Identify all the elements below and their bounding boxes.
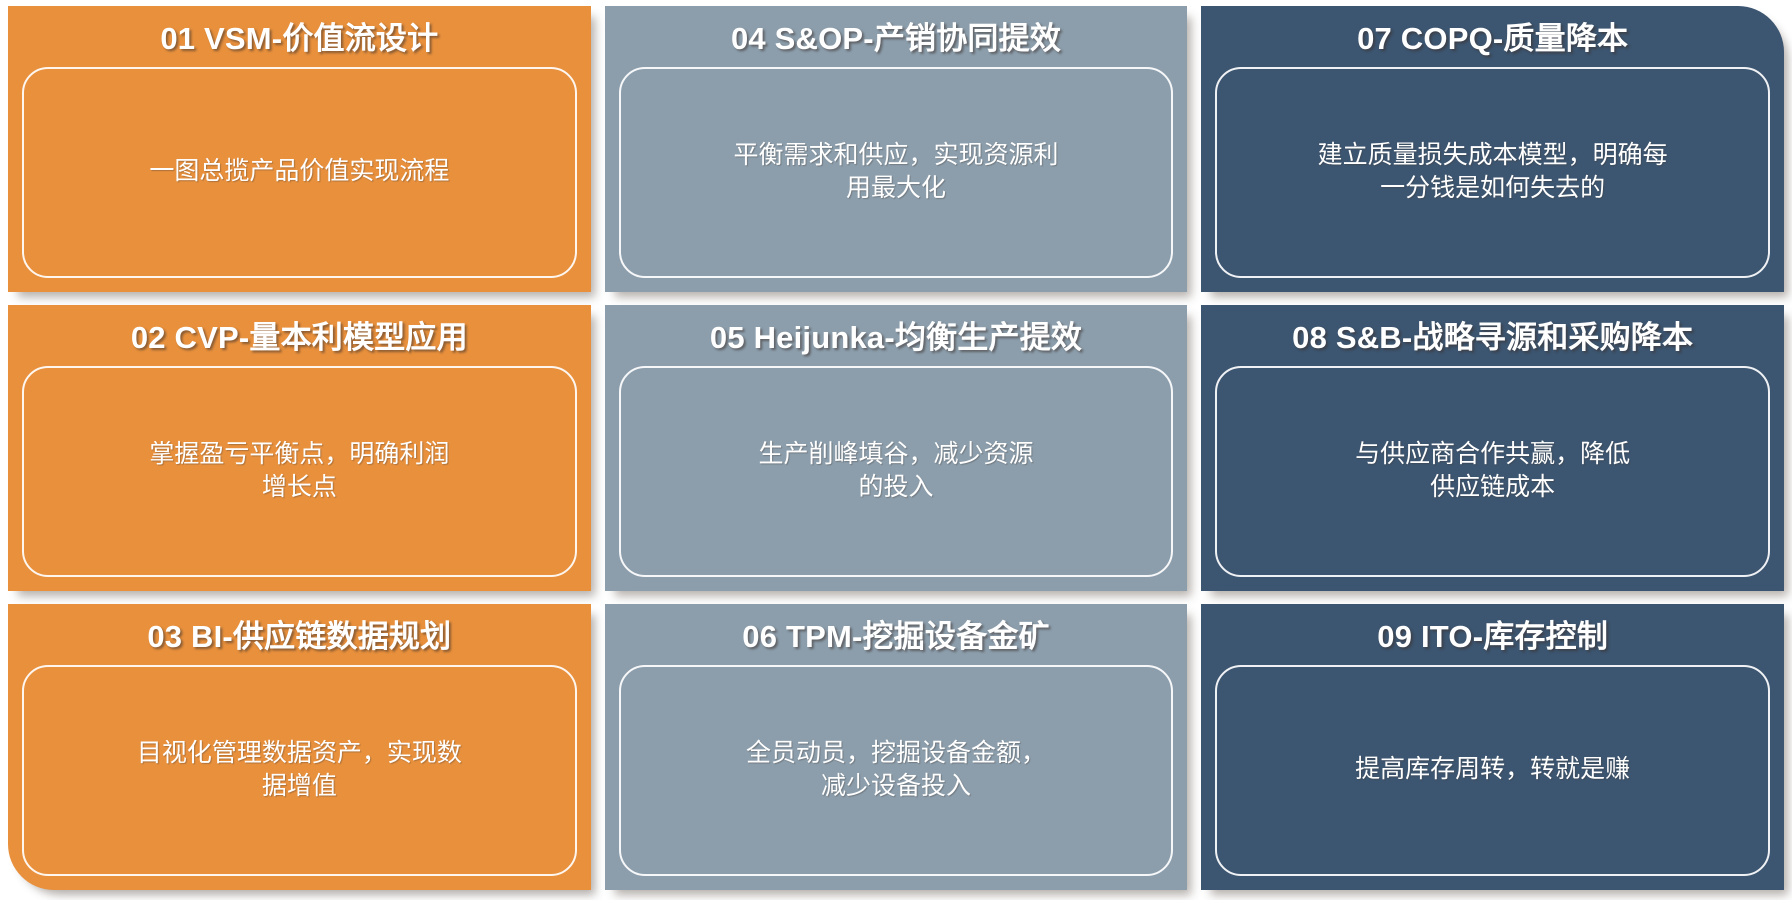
card-07-copq[interactable]: 07 COPQ-质量降本 建立质量损失成本模型，明确每 一分钱是如何失去的 <box>1201 6 1784 292</box>
card-06-tpm[interactable]: 06 TPM-挖掘设备金矿 全员动员，挖掘设备金额， 减少设备投入 <box>605 604 1188 890</box>
card-description: 与供应商合作共赢，降低 供应链成本 <box>1355 438 1630 506</box>
card-description-frame: 平衡需求和供应，实现资源利 用最大化 <box>619 67 1174 278</box>
card-description-frame: 建立质量损失成本模型，明确每 一分钱是如何失去的 <box>1215 67 1770 278</box>
card-description: 目视化管理数据资产，实现数 据增值 <box>137 737 462 805</box>
card-description-frame: 掌握盈亏平衡点，明确利润 增长点 <box>22 366 577 577</box>
card-description-frame: 提高库存周转，转就是赚 <box>1215 665 1770 876</box>
card-description: 全员动员，挖掘设备金额， 减少设备投入 <box>746 737 1046 805</box>
card-09-ito[interactable]: 09 ITO-库存控制 提高库存周转，转就是赚 <box>1201 604 1784 890</box>
card-03-bi[interactable]: 03 BI-供应链数据规划 目视化管理数据资产，实现数 据增值 <box>8 604 591 890</box>
card-title: 02 CVP-量本利模型应用 <box>16 311 583 364</box>
card-title: 04 S&OP-产销协同提效 <box>613 12 1180 65</box>
card-title: 05 Heijunka-均衡生产提效 <box>613 311 1180 364</box>
card-description: 生产削峰填谷，减少资源 的投入 <box>758 438 1033 506</box>
card-description-frame: 全员动员，挖掘设备金额， 减少设备投入 <box>619 665 1174 876</box>
card-title: 08 S&B-战略寻源和采购降本 <box>1209 311 1776 364</box>
card-title: 01 VSM-价值流设计 <box>16 12 583 65</box>
card-description-frame: 一图总揽产品价值实现流程 <box>22 67 577 278</box>
card-description: 平衡需求和供应，实现资源利 用最大化 <box>733 139 1058 207</box>
card-title: 07 COPQ-质量降本 <box>1209 12 1776 65</box>
card-title: 09 ITO-库存控制 <box>1209 610 1776 663</box>
card-description-frame: 生产削峰填谷，减少资源 的投入 <box>619 366 1174 577</box>
card-title: 06 TPM-挖掘设备金矿 <box>613 610 1180 663</box>
card-grid: 01 VSM-价值流设计 一图总揽产品价值实现流程 04 S&OP-产销协同提效… <box>8 6 1784 890</box>
card-description: 建立质量损失成本模型，明确每 一分钱是如何失去的 <box>1318 139 1668 207</box>
card-05-heijunka[interactable]: 05 Heijunka-均衡生产提效 生产削峰填谷，减少资源 的投入 <box>605 305 1188 591</box>
card-description: 掌握盈亏平衡点，明确利润 增长点 <box>149 438 449 506</box>
card-description-frame: 与供应商合作共赢，降低 供应链成本 <box>1215 366 1770 577</box>
slide-canvas: 01 VSM-价值流设计 一图总揽产品价值实现流程 04 S&OP-产销协同提效… <box>0 0 1792 900</box>
card-08-sb[interactable]: 08 S&B-战略寻源和采购降本 与供应商合作共赢，降低 供应链成本 <box>1201 305 1784 591</box>
card-title: 03 BI-供应链数据规划 <box>16 610 583 663</box>
card-01-vsm[interactable]: 01 VSM-价值流设计 一图总揽产品价值实现流程 <box>8 6 591 292</box>
card-description: 一图总揽产品价值实现流程 <box>149 155 449 189</box>
card-02-cvp[interactable]: 02 CVP-量本利模型应用 掌握盈亏平衡点，明确利润 增长点 <box>8 305 591 591</box>
card-04-sop[interactable]: 04 S&OP-产销协同提效 平衡需求和供应，实现资源利 用最大化 <box>605 6 1188 292</box>
card-description-frame: 目视化管理数据资产，实现数 据增值 <box>22 665 577 876</box>
card-description: 提高库存周转，转就是赚 <box>1355 753 1630 787</box>
